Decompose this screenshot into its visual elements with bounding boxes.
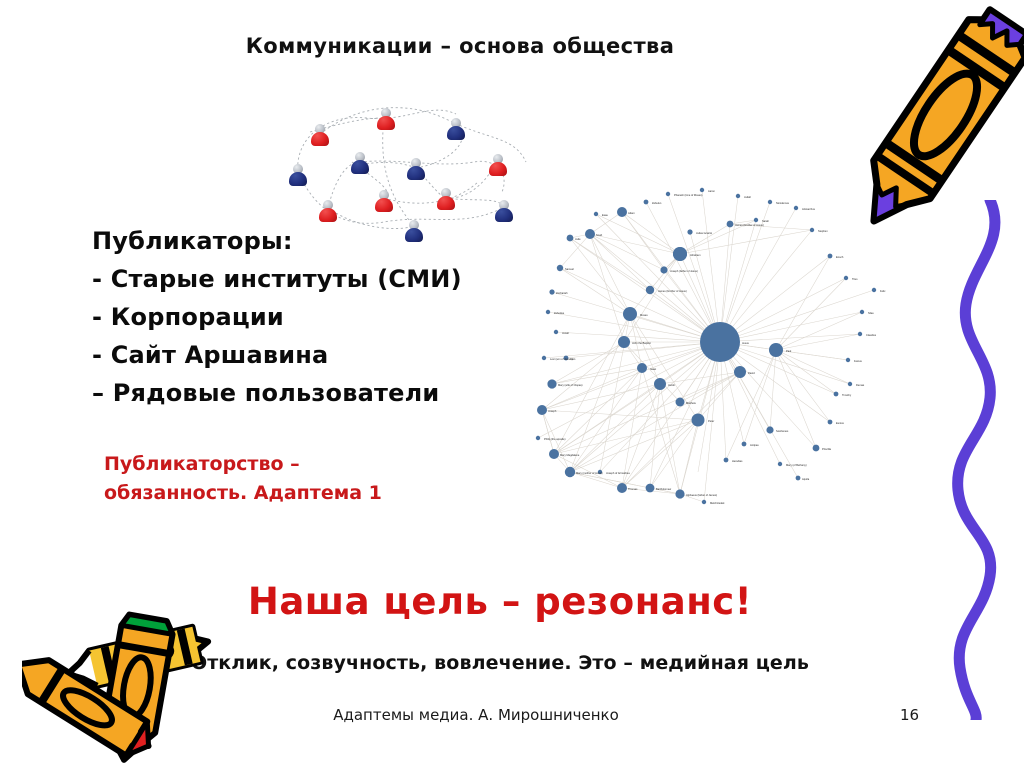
person-node (374, 190, 394, 214)
list-item: - Старые институты (СМИ) (92, 260, 522, 298)
svg-text:Titus: Titus (852, 277, 858, 281)
svg-text:Matthew: Matthew (686, 401, 696, 405)
person-node (446, 118, 466, 142)
svg-text:James (brother of Jesus): James (brother of Jesus) (735, 223, 764, 227)
svg-text:Joseph (father of Jesus): Joseph (father of Jesus) (670, 269, 698, 273)
svg-text:Jesus: Jesus (742, 341, 749, 345)
svg-text:Pharaoh (time of Moses): Pharaoh (time of Moses) (674, 193, 703, 197)
person-node (318, 200, 338, 224)
svg-text:Zechariah: Zechariah (556, 291, 568, 295)
red-note-line-2: обязанность. Адаптема 1 (104, 479, 524, 508)
list-item: – Рядовые пользователи (92, 374, 522, 412)
svg-text:Bartholomew: Bartholomew (656, 487, 671, 491)
svg-text:Jacob: Jacob (668, 383, 675, 387)
svg-text:Antipas: Antipas (750, 443, 759, 447)
svg-text:Thomas: Thomas (628, 487, 638, 491)
svg-text:Zebedee: Zebedee (554, 311, 565, 315)
svg-text:Eunice: Eunice (836, 421, 844, 425)
purple-wave-stroke (920, 200, 1024, 720)
svg-text:Mary (wife of Clopas): Mary (wife of Clopas) (558, 383, 583, 387)
person-body-icon (489, 162, 507, 176)
svg-text:Festus: Festus (854, 359, 862, 363)
svg-text:David: David (748, 371, 755, 375)
svg-text:Levi (son of James): Levi (son of James) (550, 357, 573, 361)
svg-text:Mary Magdalene: Mary Magdalene (560, 453, 580, 457)
svg-text:Melchizedek: Melchizedek (710, 501, 725, 505)
svg-text:Jude: Jude (575, 237, 581, 241)
svg-text:Demas: Demas (856, 383, 865, 387)
svg-text:John the Baptist: John the Baptist (632, 341, 651, 345)
svg-text:Adam: Adam (628, 211, 635, 215)
person-body-icon (375, 198, 393, 212)
person-body-icon (377, 116, 395, 130)
svg-text:Aaron: Aaron (708, 189, 715, 193)
svg-text:Silas: Silas (868, 311, 874, 315)
svg-text:Judas Iscariot: Judas Iscariot (696, 231, 712, 235)
person-node (376, 108, 396, 132)
svg-text:Jonah: Jonah (562, 331, 570, 335)
svg-text:Priscilla: Priscilla (822, 447, 831, 451)
svg-text:Alphaeus (father of James): Alphaeus (father of James) (686, 493, 717, 497)
person-body-icon (319, 208, 337, 222)
person-node (288, 164, 308, 188)
svg-text:Esau: Esau (602, 213, 608, 217)
person-body-icon (407, 166, 425, 180)
list-item: - Сайт Аршавина (92, 336, 522, 374)
page-title: Коммуникации – основа общества (0, 34, 920, 58)
person-node (310, 124, 330, 148)
svg-text:Claudius: Claudius (866, 333, 877, 337)
person-node (494, 200, 514, 224)
svg-text:Peter: Peter (708, 419, 714, 423)
svg-text:Abraham: Abraham (690, 253, 701, 257)
person-body-icon (447, 126, 465, 140)
svg-text:Isaac: Isaac (650, 367, 657, 371)
svg-text:Aquila: Aquila (802, 477, 810, 481)
svg-text:Samuel: Samuel (565, 267, 574, 271)
svg-text:Mary (of Bethany): Mary (of Bethany) (786, 463, 807, 467)
person-body-icon (289, 172, 307, 186)
svg-text:Mary (mother of Jesus): Mary (mother of Jesus) (576, 471, 603, 475)
person-body-icon (495, 208, 513, 222)
svg-text:Paul: Paul (786, 349, 792, 353)
person-node (350, 152, 370, 176)
svg-text:Aristarchus: Aristarchus (802, 207, 816, 211)
svg-text:Stephen: Stephen (818, 229, 828, 233)
svg-text:James (brother of Jesus): James (brother of Jesus) (658, 289, 687, 293)
crayon-cluster-icon (22, 600, 252, 767)
person-body-icon (311, 132, 329, 146)
svg-text:Nicodemus: Nicodemus (776, 201, 790, 205)
person-body-icon (437, 196, 455, 210)
person-node (436, 188, 456, 212)
person-body-icon (351, 160, 369, 174)
svg-text:Noah: Noah (596, 233, 603, 237)
red-note-line-1: Публикаторство – (104, 450, 524, 479)
red-note-block: Публикаторство – обязанность. Адаптема 1 (104, 450, 524, 508)
publishers-list: Публикаторы: - Старые институты (СМИ) - … (92, 222, 522, 412)
svg-text:Joseph of Arimathea: Joseph of Arimathea (606, 471, 630, 475)
svg-text:Felix: Felix (880, 289, 886, 293)
graph-hub-node (700, 322, 740, 362)
svg-text:Philip (the apostle): Philip (the apostle) (544, 437, 566, 441)
svg-text:Moses: Moses (640, 313, 648, 317)
svg-text:Timothy: Timothy (842, 393, 852, 397)
slide-canvas: Коммуникации – основа общества (0, 0, 1024, 767)
person-node (406, 158, 426, 182)
svg-text:Herodias: Herodias (732, 459, 743, 463)
svg-text:Sosthenes: Sosthenes (776, 429, 789, 433)
list-item: - Корпорации (92, 298, 522, 336)
publishers-heading: Публикаторы: (92, 222, 522, 260)
svg-text:Judah: Judah (744, 195, 752, 199)
person-node (488, 154, 508, 178)
svg-text:Joseph: Joseph (548, 409, 557, 413)
svg-text:Sarah: Sarah (762, 219, 769, 223)
svg-text:Zebulun: Zebulun (652, 201, 662, 205)
